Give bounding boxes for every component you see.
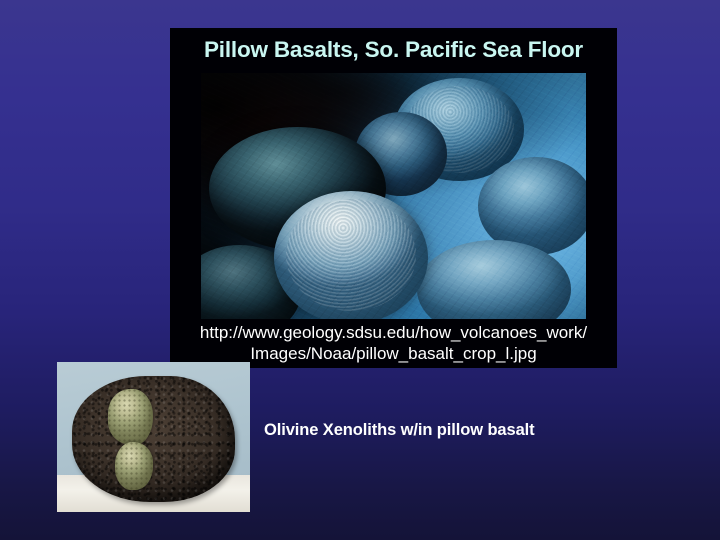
pillow-basalt-seafloor-photo [201,73,586,319]
source-url-line-1: http://www.geology.sdsu.edu/how_volcanoe… [170,322,617,343]
panel-title: Pillow Basalts, So. Pacific Sea Floor [170,37,617,63]
source-url-line-2: Images/Noaa/pillow_basalt_crop_l.jpg [170,343,617,364]
specimen-caption: Olivine Xenoliths w/in pillow basalt [264,421,535,440]
olivine-xenolith-upper [108,389,153,444]
slide-canvas: Pillow Basalts, So. Pacific Sea Floor ht… [0,0,720,540]
main-image-panel: Pillow Basalts, So. Pacific Sea Floor ht… [170,28,617,368]
olivine-xenolith-specimen-photo [57,362,250,512]
source-url-block: http://www.geology.sdsu.edu/how_volcanoe… [170,322,617,364]
olivine-xenolith-lower [115,442,154,490]
basalt-hand-sample [72,376,234,502]
photo-vignette [201,73,586,319]
